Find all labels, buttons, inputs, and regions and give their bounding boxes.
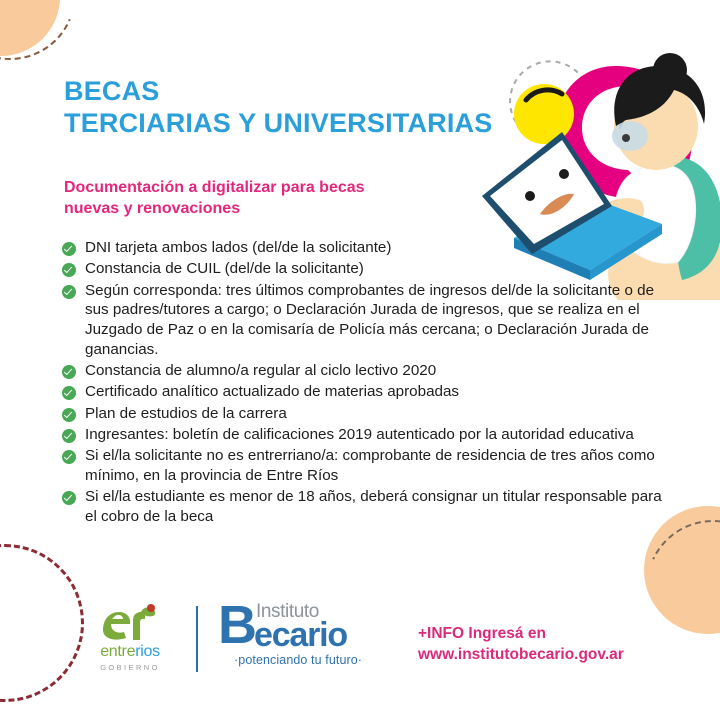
requirement-text: Plan de estudios de la carrera bbox=[85, 405, 287, 422]
requirement-item: Según corresponda: tres últimos comproba… bbox=[62, 281, 670, 360]
screen-eye-left bbox=[525, 191, 535, 201]
entrerios-wordmark: entrerios bbox=[78, 644, 182, 660]
entrerios-mark-icon bbox=[99, 604, 161, 642]
requirement-item: Ingresantes: boletín de calificaciones 2… bbox=[62, 425, 670, 445]
requirements-list: DNI tarjeta ambos lados (del/de la solic… bbox=[62, 238, 670, 528]
screen-eye-right bbox=[559, 169, 569, 179]
requirement-text: Si el/la solicitante no es entrerriano/a… bbox=[85, 447, 655, 484]
requirement-item: Constancia de alumno/a regular al ciclo … bbox=[62, 361, 670, 381]
entrerios-word-blue: rios bbox=[135, 643, 160, 660]
logo-instituto-becario[interactable]: B Instituto ecario ·potenciando tu futur… bbox=[218, 600, 398, 652]
requirement-text: Constancia de CUIL (del/de la solicitant… bbox=[85, 260, 364, 277]
poster-canvas: BECAS TERCIARIAS Y UNIVERSITARIAS Docume… bbox=[0, 0, 720, 720]
person-glasses bbox=[612, 121, 648, 151]
check-circle-icon bbox=[62, 365, 76, 379]
entrerios-subtitle: GOBIERNO bbox=[78, 663, 182, 672]
requirement-item: DNI tarjeta ambos lados (del/de la solic… bbox=[62, 238, 670, 258]
sun-circle bbox=[514, 84, 574, 144]
footer: entrerios GOBIERNO B Instituto ecario ·p… bbox=[0, 596, 720, 706]
requirement-text: Certificado analítico actualizado de mat… bbox=[85, 383, 459, 400]
requirement-item: Constancia de CUIL (del/de la solicitant… bbox=[62, 259, 670, 279]
check-circle-icon bbox=[62, 491, 76, 505]
requirement-text: DNI tarjeta ambos lados (del/de la solic… bbox=[85, 239, 391, 256]
requirement-item: Certificado analítico actualizado de mat… bbox=[62, 382, 670, 402]
requirement-item: Si el/la solicitante no es entrerriano/a… bbox=[62, 446, 670, 486]
requirement-text: Si el/la estudiante es menor de 18 años,… bbox=[85, 488, 662, 525]
requirement-text: Constancia de alumno/a regular al ciclo … bbox=[85, 362, 436, 379]
page-subtitle: Documentación a digitalizar para becas n… bbox=[64, 178, 494, 220]
person-eye bbox=[622, 134, 630, 142]
check-circle-icon bbox=[62, 429, 76, 443]
requirement-text: Según corresponda: tres últimos comproba… bbox=[85, 282, 654, 358]
check-circle-icon bbox=[62, 450, 76, 464]
requirement-item: Si el/la estudiante es menor de 18 años,… bbox=[62, 487, 670, 527]
page-title: BECAS TERCIARIAS Y UNIVERSITARIAS bbox=[64, 76, 492, 139]
logo-entrerios[interactable]: entrerios GOBIERNO bbox=[78, 604, 182, 672]
requirement-item: Plan de estudios de la carrera bbox=[62, 404, 670, 424]
decor-circle-peach-top-left bbox=[0, 0, 60, 56]
becario-initial: B bbox=[218, 598, 255, 652]
becario-ecario-word: ecario bbox=[254, 618, 347, 652]
check-circle-icon bbox=[62, 242, 76, 256]
person-hair-bun bbox=[653, 53, 687, 87]
footer-divider bbox=[196, 606, 198, 672]
requirement-text: Ingresantes: boletín de calificaciones 2… bbox=[85, 426, 634, 443]
entrerios-word-green: entre bbox=[100, 643, 135, 660]
check-circle-icon bbox=[62, 386, 76, 400]
check-circle-icon bbox=[62, 285, 76, 299]
info-contact-text[interactable]: +INFO Ingresá en www.institutobecario.go… bbox=[418, 624, 624, 666]
decor-dashed-arc-top-left bbox=[0, 0, 96, 80]
check-circle-icon bbox=[62, 263, 76, 277]
becario-logotype: B Instituto ecario ·potenciando tu futur… bbox=[218, 600, 398, 652]
check-circle-icon bbox=[62, 408, 76, 422]
becario-tagline: ·potenciando tu futuro· bbox=[234, 654, 362, 667]
